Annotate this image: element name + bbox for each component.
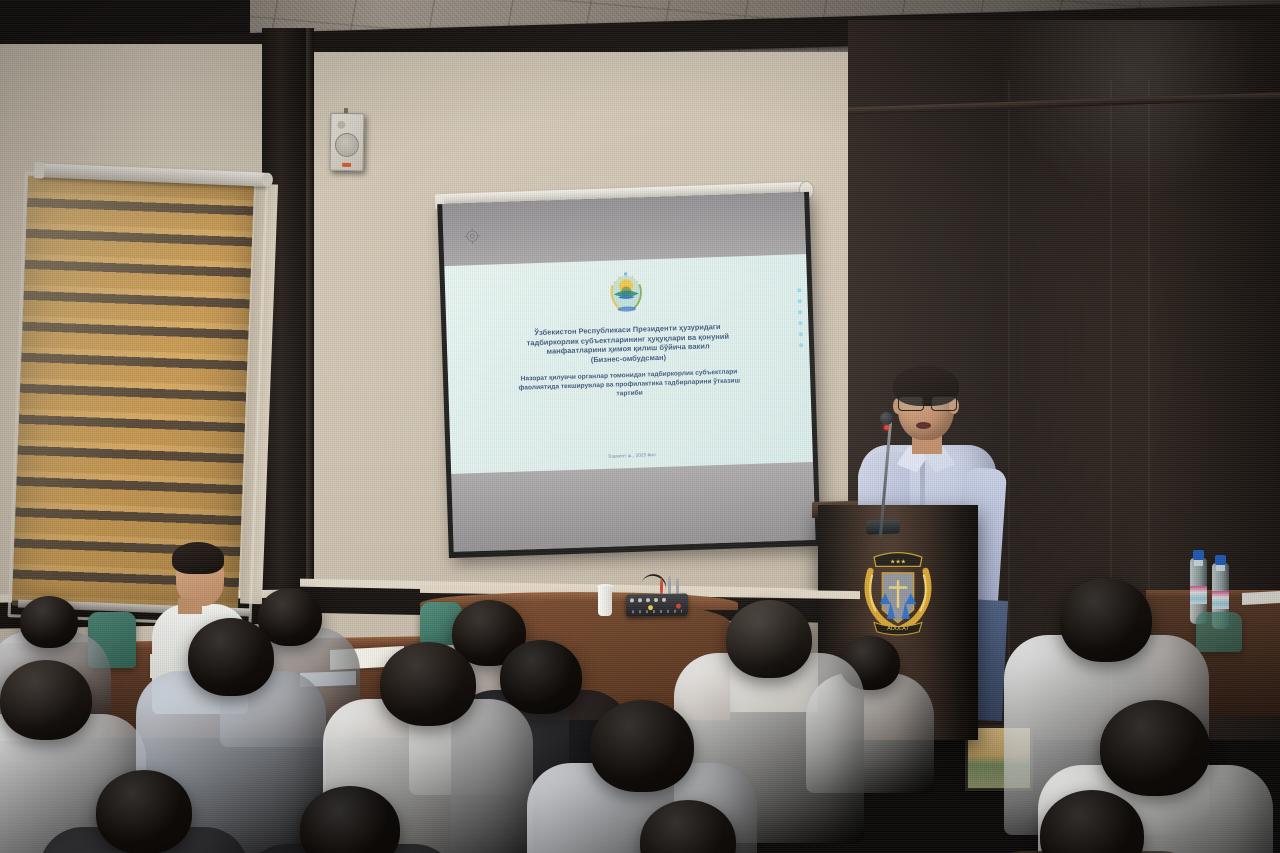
microphone-capsule: [880, 412, 893, 425]
attendee-right-1-head: [726, 600, 812, 678]
bottle-label: [1212, 591, 1229, 609]
conference-room-photo: Ўзбекистон Республикаси Президенти ҳузур…: [0, 0, 1280, 853]
attendee-center-3-head: [590, 700, 694, 792]
attendee-left-3-head: [96, 770, 192, 853]
attendee-center-1-head: [380, 642, 476, 726]
attendee-far-3-head: [20, 596, 78, 648]
bottle-cap-icon: [1215, 555, 1226, 565]
bottle-cap-icon: [1193, 550, 1204, 560]
presenter-mouth: [916, 422, 931, 429]
attendee-right-2-head: [1060, 578, 1152, 662]
screen-surface: Ўзбекистон Республикаси Президенти ҳузур…: [442, 192, 815, 552]
seated-man-hair: [172, 542, 224, 574]
bottle-label: [1190, 586, 1207, 604]
institution-gold-laurel-emblem: ★★★ ADOLAT: [852, 545, 944, 643]
window-frame: [8, 171, 269, 626]
mixer-knob-red[interactable]: [676, 604, 681, 609]
svg-text:ADOLAT: ADOLAT: [887, 626, 909, 632]
slide-subtitle: Назорат қилувчи органлар томонидан тадби…: [448, 366, 811, 404]
paper-cup: [598, 586, 612, 616]
speaker-brand-logo: [342, 163, 351, 167]
mixer-knob-row[interactable]: [630, 598, 666, 603]
svg-text:★★★: ★★★: [890, 559, 906, 566]
wall-highlight: [1000, 20, 1260, 200]
attendee-left-1-head: [0, 660, 92, 740]
slide-date: Тошкент ш., 2025 йил: [451, 447, 813, 464]
mixer-fader-row[interactable]: [632, 610, 682, 614]
projection-screen[interactable]: Ўзбекистон Республикаси Президенти ҳузур…: [437, 192, 821, 558]
projector-brand-watermark: [463, 227, 482, 246]
attendee-right-3-head: [1100, 700, 1210, 796]
blind-endcap-icon: [34, 162, 45, 178]
attendee-left-2-head: [188, 618, 274, 696]
wall-mounted-loudspeaker: [329, 113, 364, 172]
attendee-center-2-head: [500, 640, 582, 714]
uzbekistan-coat-of-arms: [604, 267, 648, 314]
microphone-led-indicator: [884, 425, 889, 430]
seated-man-neck: [178, 598, 202, 614]
tweeter-icon: [337, 121, 345, 129]
audio-mixer-console[interactable]: [626, 593, 688, 616]
screen-bottom-band: [451, 462, 815, 552]
document-sheet: [1242, 591, 1280, 605]
conference-chair: [1196, 612, 1242, 652]
slide-title: Ўзбекистон Республикаси Президенти ҳузур…: [446, 319, 809, 369]
eyeglasses-icon: [896, 396, 958, 409]
woofer-icon: [335, 133, 359, 157]
presentation-slide: Ўзбекистон Республикаси Президенти ҳузур…: [444, 254, 813, 474]
